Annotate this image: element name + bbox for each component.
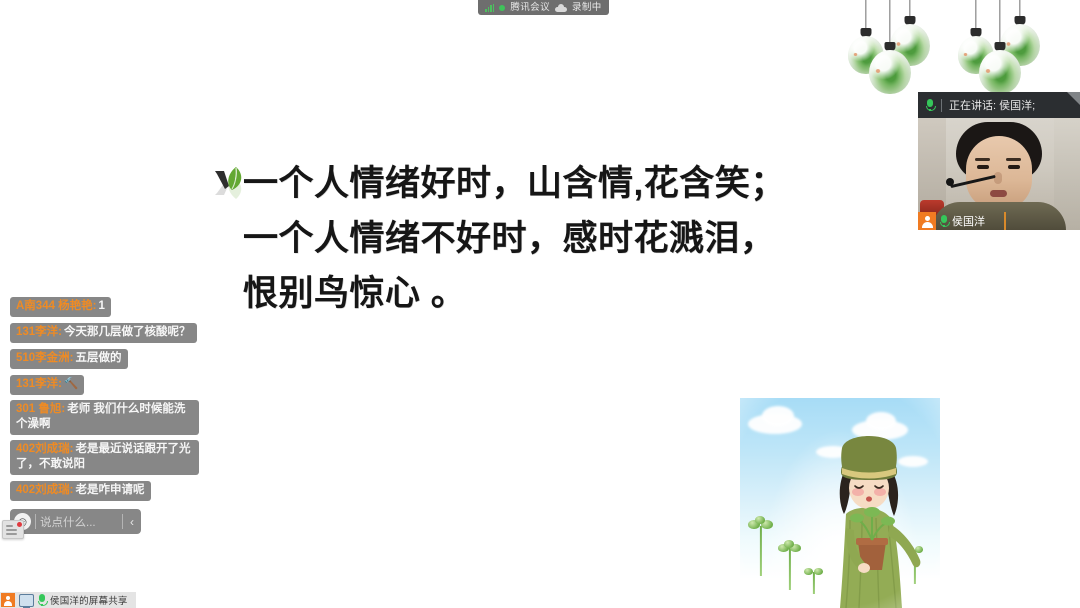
sprout-icon — [778, 544, 802, 590]
chat-message-user: 301 鲁旭: — [16, 403, 65, 415]
notification-badge — [17, 522, 22, 527]
chat-message: 402刘成瑞:老是最近说话跟开了光了，不敢说阳 — [10, 440, 199, 475]
speaker-video-panel[interactable]: 正在讲话: 侯国洋; 侯国洋 — [918, 92, 1080, 230]
chat-message-text: 老是咋申请呢 — [76, 484, 145, 496]
chat-message: 131李洋:今天那几层做了核酸呢？ — [10, 323, 197, 343]
video-feed[interactable]: 侯国洋 — [918, 118, 1080, 230]
signal-bars-icon — [485, 4, 494, 12]
girl-with-potted-plant-illustration — [740, 398, 940, 608]
person-avatar-icon — [918, 212, 936, 230]
microphone-icon — [38, 594, 46, 606]
chat-message: 402刘成瑞:老是咋申请呢 — [10, 481, 151, 501]
chat-message-user: A南344 杨艳艳: — [16, 300, 97, 312]
chat-message-user: 131李洋: — [16, 378, 62, 390]
chat-message-text: 五层做的 — [76, 352, 122, 364]
person-avatar-icon — [1, 593, 15, 607]
screen-share-label: 侯国洋的屏幕共享 — [50, 593, 128, 607]
microphone-icon — [926, 99, 934, 111]
meeting-screen-share-view: 腾讯会议 录制中 一个人情绪好时，山含情,花含笑； 一个人情绪不好时，感时花溅泪… — [0, 0, 1080, 608]
chat-message-user: 402刘成瑞: — [16, 443, 74, 455]
participant-name-tag: 侯国洋 — [918, 212, 991, 230]
chat-message: 301 鲁旭:老师 我们什么时候能洗个澡啊 — [10, 400, 199, 435]
chat-overlay: A南344 杨艳艳:1 131李洋:今天那几层做了核酸呢？ 510李金洲:五层做… — [10, 296, 225, 534]
pendant-lamp-cluster-right — [972, 0, 1080, 90]
cloud-icon — [555, 4, 567, 12]
corner-fold-icon[interactable] — [1067, 92, 1080, 105]
recording-status-bar: 腾讯会议 录制中 — [478, 0, 609, 15]
sprout-icon — [748, 520, 774, 576]
participant-list-icon[interactable] — [2, 520, 24, 539]
chat-message-text: 1 — [99, 300, 105, 312]
chat-message: 131李洋:🔨 — [10, 375, 84, 395]
speaker-video-header: 正在讲话: 侯国洋; — [918, 92, 1080, 118]
microphone-icon — [940, 215, 948, 227]
chevron-left-icon[interactable]: ‹ — [127, 515, 137, 529]
slide-line-2: 一个人情绪不好时，感时花溅泪， — [243, 211, 863, 266]
chat-input-bar[interactable]: ☺ 说点什么... ‹ — [10, 509, 141, 534]
sprout-icon — [804, 568, 824, 594]
girl-figure — [828, 428, 928, 608]
divider — [941, 99, 942, 112]
pendant-lamp-cluster-left — [862, 0, 972, 90]
chat-input-placeholder[interactable]: 说点什么... — [40, 514, 118, 530]
chat-message: 510李金洲:五层做的 — [10, 349, 128, 369]
chat-message-text: 今天那几层做了核酸呢？ — [64, 326, 191, 338]
slide-text-block: 一个人情绪好时，山含情,花含笑； 一个人情绪不好时，感时花溅泪， 恨别鸟惊心 。 — [243, 156, 863, 321]
screen-share-icon — [19, 594, 34, 607]
recording-state-label: 录制中 — [572, 0, 602, 15]
slide-line-3: 恨别鸟惊心 。 — [243, 266, 863, 321]
chat-message: A南344 杨艳艳:1 — [10, 297, 111, 317]
chat-message-sticker: 🔨 — [64, 378, 78, 390]
screen-share-status-bar: 侯国洋的屏幕共享 — [0, 592, 136, 608]
speaking-label: 正在讲话: 侯国洋; — [949, 97, 1035, 113]
divider — [122, 514, 123, 529]
recording-dot-icon — [499, 5, 505, 11]
chat-message-user: 510李金洲: — [16, 352, 74, 364]
chat-message-user: 402刘成瑞: — [16, 484, 74, 496]
participant-name-label: 侯国洋 — [952, 213, 985, 229]
chat-message-user: 131李洋: — [16, 326, 62, 338]
slide-line-1: 一个人情绪好时，山含情,花含笑； — [243, 156, 863, 211]
app-name-label: 腾讯会议 — [510, 0, 550, 15]
divider — [35, 514, 36, 529]
